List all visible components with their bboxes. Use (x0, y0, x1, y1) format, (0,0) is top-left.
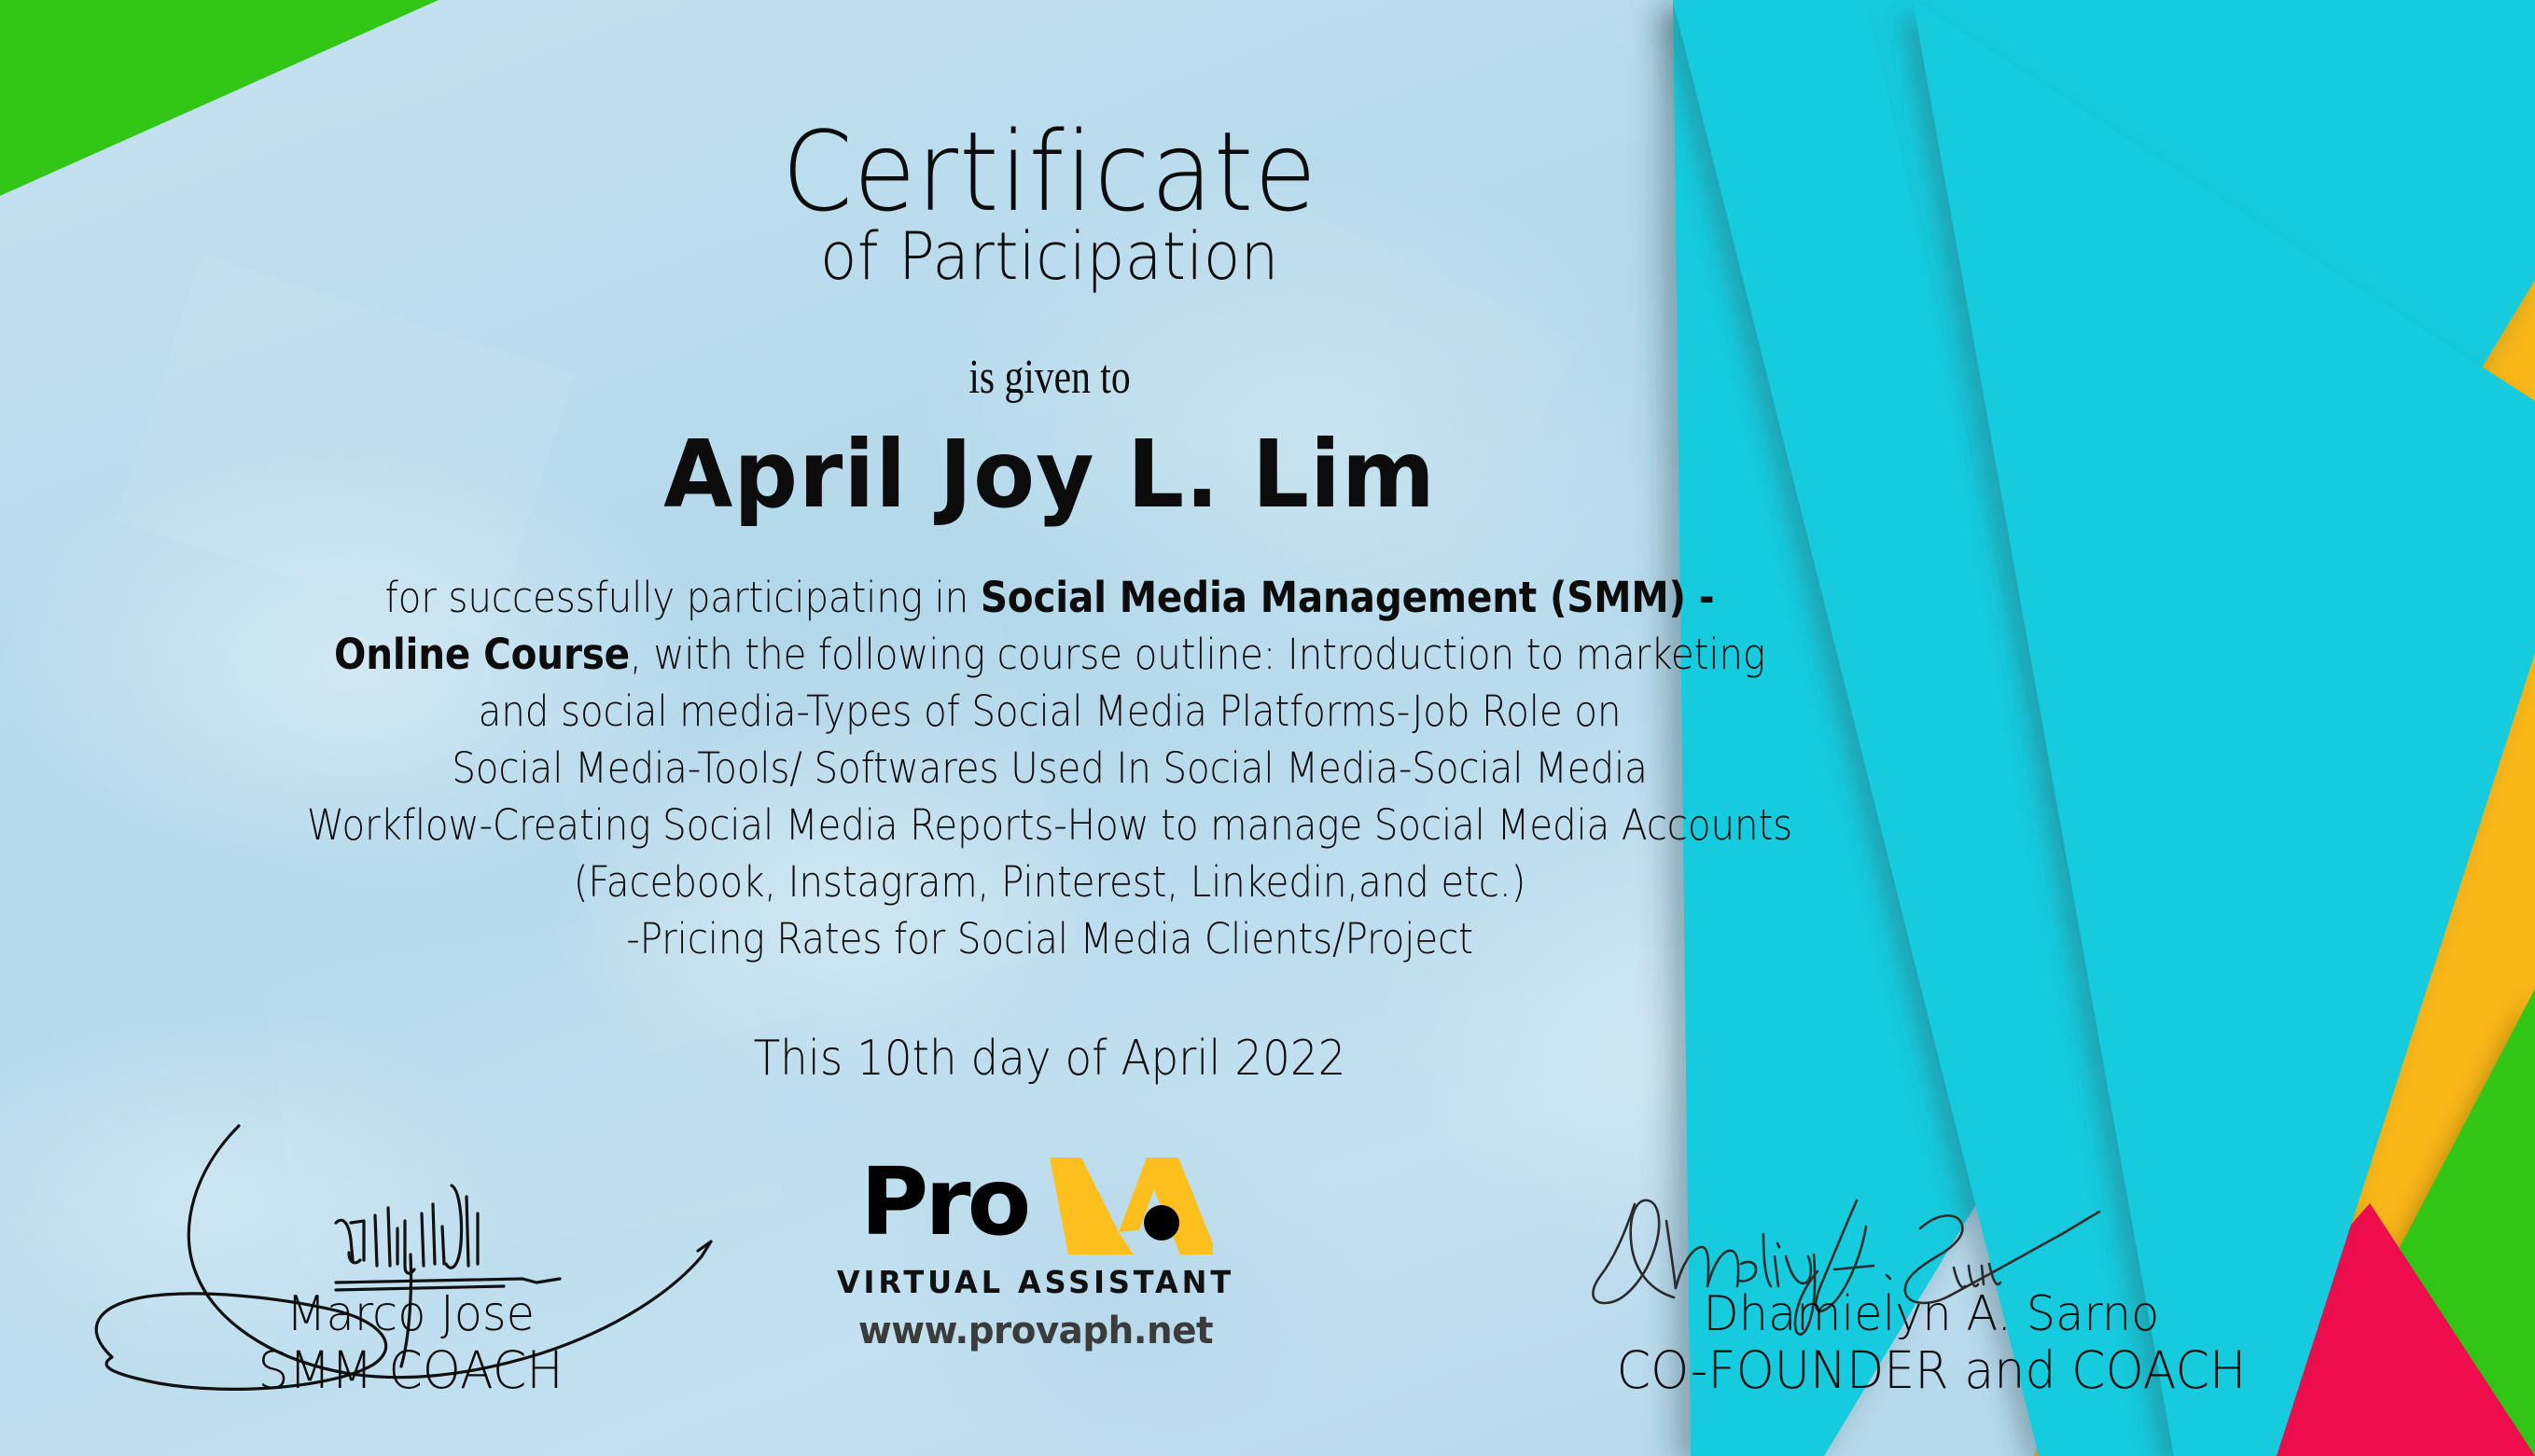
logo-text-pro: Pro (860, 1156, 1027, 1249)
body-line: Workflow-Creating Social Media Reports-H… (105, 797, 1995, 853)
given-to-label: is given to (210, 350, 1889, 405)
signature-block-left: Marco Jose SMM COACH (84, 1287, 737, 1399)
prova-logo: Pro VIRTUAL ASSISTANT www.provaph.net (821, 1161, 1250, 1352)
signatory-role: CO-FOUNDER and COACH (1533, 1341, 2331, 1399)
course-description: for successfully participating in Social… (105, 569, 1995, 967)
certificate-canvas: Certificate of Participation is given to… (0, 0, 2535, 1456)
logo-va-icon (1050, 1158, 1213, 1255)
recipient-name: April Joy L. Lim (42, 420, 2057, 529)
signatory-name: Marco Jose (101, 1287, 721, 1341)
body-line: for successfully participating in Social… (105, 569, 1995, 626)
course-name-bold-part2: Online Course (334, 630, 630, 679)
course-name-bold-part1: Social Media Management (SMM) - (981, 573, 1715, 622)
body-line: and social media-Types of Social Media P… (105, 683, 1995, 740)
page-title: Certificate (84, 117, 2015, 227)
signature-block-right: Dhamielyn A. Sarno CO-FOUNDER and COACH (1511, 1287, 2351, 1399)
body-line: -Pricing Rates for Social Media Clients/… (105, 910, 1995, 967)
body-line: Online Course, with the following course… (105, 626, 1995, 683)
signatory-role: SMM COACH (101, 1341, 721, 1399)
body-line: (Facebook, Instagram, Pinterest, Linkedi… (105, 853, 1995, 910)
issue-date: This 10th day of April 2022 (105, 1031, 1995, 1087)
page-subtitle: of Participation (84, 224, 2015, 289)
logo-wordmark: Pro (821, 1161, 1250, 1262)
body-line: Social Media-Tools/ Softwares Used In So… (105, 740, 1995, 797)
logo-website-url: www.provaph.net (828, 1310, 1244, 1352)
signatory-name: Dhamielyn A. Sarno (1533, 1287, 2331, 1341)
logo-tagline: VIRTUAL ASSISTANT (828, 1264, 1244, 1300)
body-lead: for successfully participating in (385, 573, 981, 622)
body-line-text: , with the following course outline: Int… (630, 630, 1765, 679)
